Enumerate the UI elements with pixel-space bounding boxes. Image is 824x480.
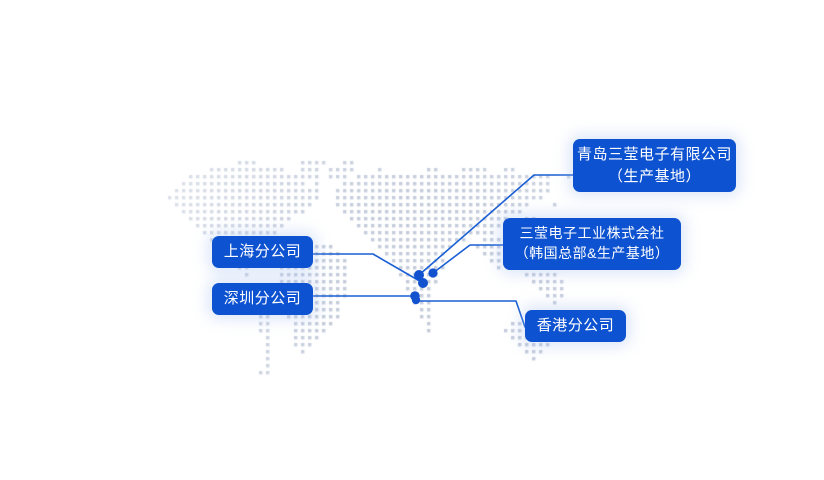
korea-marker[interactable] [428, 268, 437, 277]
hongkong-connector [416, 301, 525, 327]
hongkong-marker[interactable] [412, 296, 420, 304]
world-presence-map: 青岛三莹电子有限公司 （生产基地） 三莹电子工业株式会社 （韩国总部&生产基地）… [0, 0, 824, 480]
label-qingdao-factory[interactable]: 青岛三莹电子有限公司 （生产基地） [573, 139, 736, 192]
label-qingdao-line2: （生产基地） [608, 166, 701, 187]
location-markers [410, 268, 437, 304]
label-qingdao-line1: 青岛三莹电子有限公司 [577, 144, 732, 165]
label-hongkong-line1: 香港分公司 [537, 315, 615, 336]
label-shanghai-branch[interactable]: 上海分公司 [212, 236, 313, 268]
label-korea-line1: 三莹电子工业株式会社 [520, 224, 665, 244]
label-korea-line2: （韩国总部&生产基地） [515, 244, 670, 264]
shanghai-marker[interactable] [418, 278, 428, 288]
label-shanghai-line1: 上海分公司 [224, 241, 302, 262]
label-hongkong-branch[interactable]: 香港分公司 [525, 310, 626, 342]
label-shenzhen-branch[interactable]: 深圳分公司 [212, 283, 313, 315]
korea-connector [433, 245, 503, 273]
connector-layer [0, 0, 824, 480]
shanghai-connector [313, 254, 423, 283]
label-korea-headquarters[interactable]: 三莹电子工业株式会社 （韩国总部&生产基地） [503, 218, 681, 270]
label-shenzhen-line1: 深圳分公司 [224, 288, 302, 309]
